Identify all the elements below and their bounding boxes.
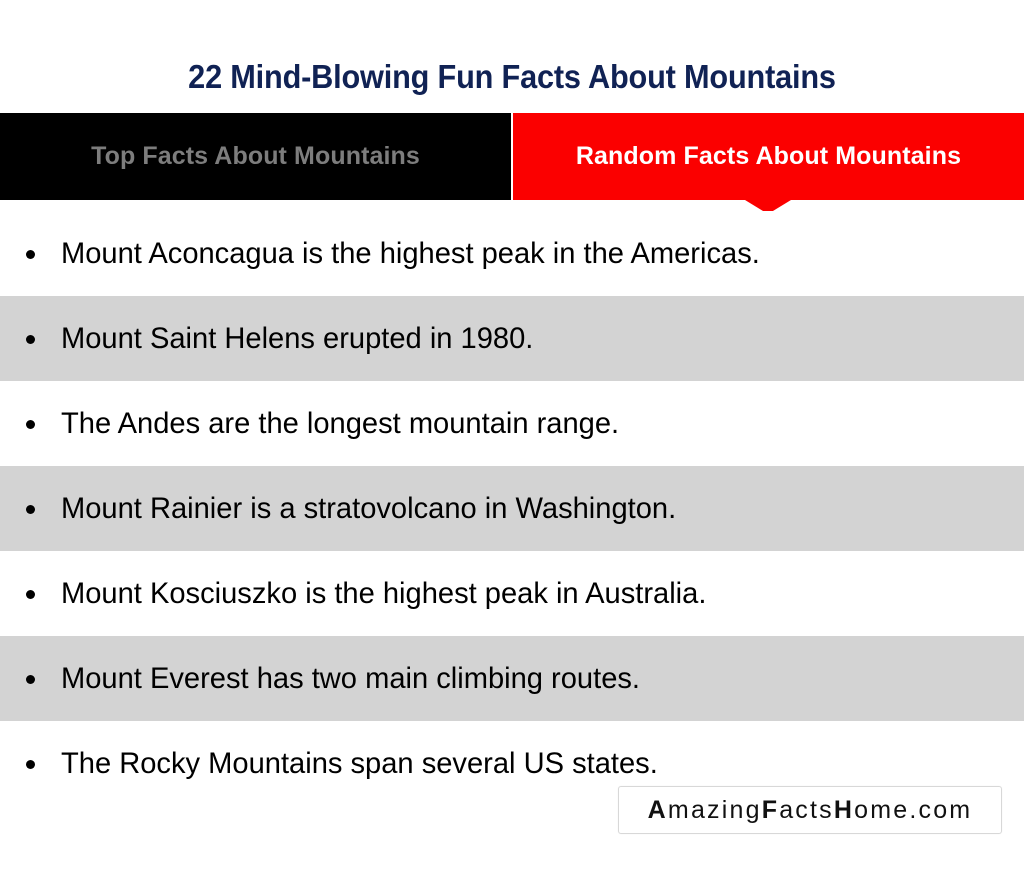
fact-text: Mount Kosciuszko is the highest peak in …: [61, 577, 730, 611]
fact-text: Mount Everest has two main climbing rout…: [61, 662, 663, 696]
fact-row: Mount Saint Helens erupted in 1980.: [0, 296, 1024, 381]
bullet-dot-icon: [26, 760, 35, 769]
infographic-page: 22 Mind-Blowing Fun Facts About Mountain…: [0, 0, 1024, 882]
watermark-segment: F: [762, 796, 779, 824]
bullet-dot-icon: [26, 675, 35, 684]
tab-random-facts-about-mountains[interactable]: Random Facts About Mountains: [513, 113, 1024, 200]
bullet-dot-icon: [26, 335, 35, 344]
watermark-segment: A: [648, 796, 668, 824]
bullet-dot-icon: [26, 420, 35, 429]
watermark-segment: mazing: [668, 796, 762, 824]
tab-top-facts-about-mountains[interactable]: Top Facts About Mountains: [0, 113, 511, 200]
page-title: 22 Mind-Blowing Fun Facts About Mountain…: [36, 58, 988, 96]
fact-row: Mount Aconcagua is the highest peak in t…: [0, 211, 1024, 296]
fact-row: The Andes are the longest mountain range…: [0, 381, 1024, 466]
fact-text: Mount Rainier is a stratovolcano in Wash…: [61, 492, 699, 526]
tab-bar: Top Facts About Mountains Random Facts A…: [0, 113, 1024, 200]
fact-row: Mount Everest has two main climbing rout…: [0, 636, 1024, 721]
facts-list: Mount Aconcagua is the highest peak in t…: [0, 211, 1024, 806]
watermark-segment: ome.com: [854, 796, 972, 824]
bullet-dot-icon: [26, 590, 35, 599]
watermark-segment: H: [834, 796, 854, 824]
fact-row: Mount Rainier is a stratovolcano in Wash…: [0, 466, 1024, 551]
fact-text: Mount Saint Helens erupted in 1980.: [61, 322, 557, 356]
bullet-dot-icon: [26, 250, 35, 259]
bullet-dot-icon: [26, 505, 35, 514]
tab-active-label: Random Facts About Mountains: [576, 142, 961, 171]
watermark-segment: acts: [779, 796, 834, 824]
fact-row: Mount Kosciuszko is the highest peak in …: [0, 551, 1024, 636]
tab-inactive-label: Top Facts About Mountains: [91, 142, 420, 171]
site-watermark: AmazingFactsHome.com: [618, 786, 1002, 834]
fact-text: The Andes are the longest mountain range…: [61, 407, 642, 441]
site-watermark-label: AmazingFactsHome.com: [648, 796, 973, 825]
fact-text: Mount Aconcagua is the highest peak in t…: [61, 237, 783, 271]
fact-text: The Rocky Mountains span several US stat…: [61, 747, 681, 781]
